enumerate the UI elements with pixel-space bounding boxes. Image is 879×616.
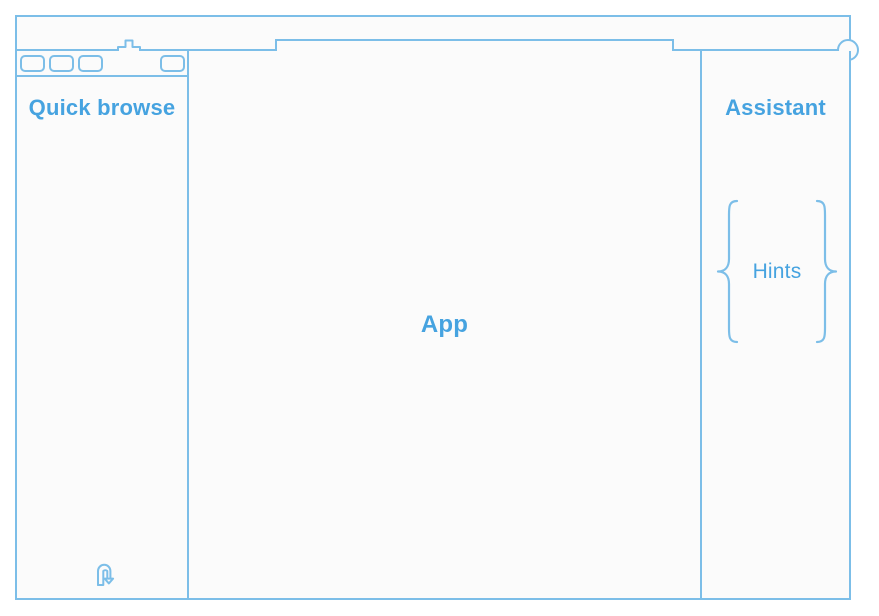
main-app-label: App — [189, 51, 700, 598]
sidebar-panel: Quick browse — [15, 51, 189, 600]
main-app-panel: App — [189, 51, 702, 600]
assistant-title: Assistant — [702, 95, 849, 121]
hints-label: Hints — [753, 260, 802, 284]
sidebar-item-tab-1[interactable] — [20, 55, 45, 72]
sidebar-item-tab-3[interactable] — [78, 55, 103, 72]
right-brace-icon — [812, 199, 838, 344]
sidebar-tab-group-left — [20, 55, 103, 72]
hints-block: Hints — [716, 199, 838, 344]
top-bar — [15, 15, 851, 51]
body-region: Quick browse App Assistant — [15, 51, 851, 600]
u-turn-arrow-icon[interactable] — [93, 559, 123, 589]
sidebar-toolbar — [17, 51, 187, 77]
assistant-panel: Assistant Hints — [702, 51, 851, 600]
sidebar-tab-group-right — [160, 55, 185, 72]
sidebar-item-tab-4[interactable] — [160, 55, 185, 72]
left-brace-icon — [716, 199, 742, 344]
sidebar-title: Quick browse — [17, 94, 187, 122]
wireframe-canvas: Quick browse App Assistant — [0, 0, 879, 616]
sidebar-item-tab-2[interactable] — [49, 55, 74, 72]
